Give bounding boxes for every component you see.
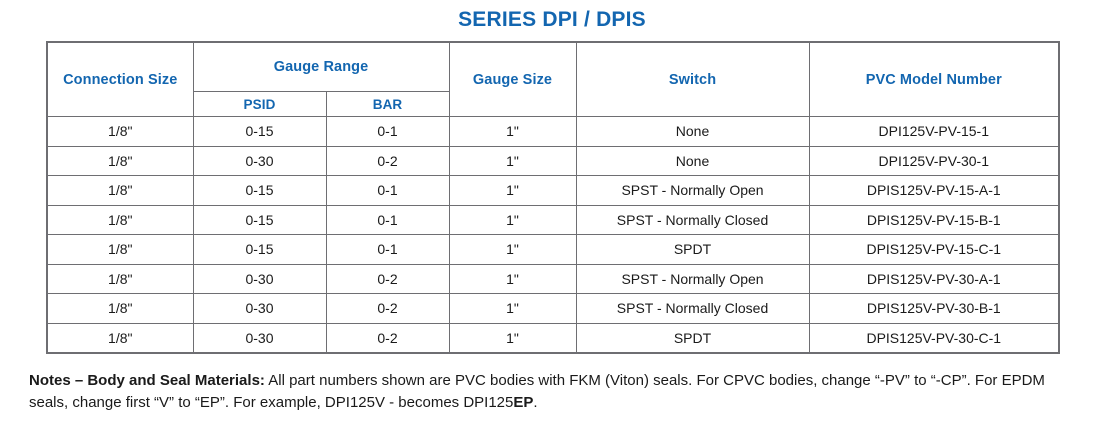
page-title: SERIES DPI / DPIS (0, 8, 1104, 32)
column-header-psid: PSID (193, 92, 326, 117)
table-row: 1/8"0-150-11"SPST - Normally ClosedDPIS1… (47, 205, 1059, 235)
cell-pvc-model-number: DPI125V-PV-15-1 (809, 117, 1059, 147)
cell-gauge-size: 1" (449, 323, 576, 353)
cell-connection-size: 1/8" (47, 264, 193, 294)
cell-connection-size: 1/8" (47, 117, 193, 147)
cell-pvc-model-number: DPIS125V-PV-15-C-1 (809, 235, 1059, 265)
cell-switch: SPDT (576, 323, 809, 353)
cell-switch: None (576, 146, 809, 176)
cell-psid: 0-15 (193, 235, 326, 265)
cell-connection-size: 1/8" (47, 176, 193, 206)
cell-pvc-model-number: DPI125V-PV-30-1 (809, 146, 1059, 176)
cell-bar: 0-2 (326, 323, 449, 353)
column-header-gauge-size: Gauge Size (449, 42, 576, 117)
notes-block: Notes – Body and Seal Materials: All par… (29, 370, 1081, 414)
table-body: 1/8"0-150-11"NoneDPI125V-PV-15-11/8"0-30… (47, 117, 1059, 354)
cell-psid: 0-30 (193, 323, 326, 353)
cell-switch: SPDT (576, 235, 809, 265)
cell-psid: 0-30 (193, 146, 326, 176)
product-spec-table: Connection Size Gauge Range Gauge Size S… (46, 41, 1060, 354)
cell-psid: 0-15 (193, 205, 326, 235)
cell-bar: 0-2 (326, 264, 449, 294)
cell-pvc-model-number: DPIS125V-PV-30-A-1 (809, 264, 1059, 294)
cell-switch: SPST - Normally Closed (576, 205, 809, 235)
cell-connection-size: 1/8" (47, 235, 193, 265)
cell-connection-size: 1/8" (47, 294, 193, 324)
header-row-primary: Connection Size Gauge Range Gauge Size S… (47, 42, 1059, 92)
table-row: 1/8"0-300-21"SPDTDPIS125V-PV-30-C-1 (47, 323, 1059, 353)
cell-psid: 0-15 (193, 176, 326, 206)
cell-pvc-model-number: DPIS125V-PV-15-A-1 (809, 176, 1059, 206)
cell-connection-size: 1/8" (47, 146, 193, 176)
column-header-switch: Switch (576, 42, 809, 117)
cell-bar: 0-2 (326, 294, 449, 324)
table-row: 1/8"0-300-21"SPST - Normally OpenDPIS125… (47, 264, 1059, 294)
cell-bar: 0-2 (326, 146, 449, 176)
table-row: 1/8"0-300-21"NoneDPI125V-PV-30-1 (47, 146, 1059, 176)
cell-gauge-size: 1" (449, 264, 576, 294)
table-row: 1/8"0-150-11"SPDTDPIS125V-PV-15-C-1 (47, 235, 1059, 265)
table-row: 1/8"0-150-11"NoneDPI125V-PV-15-1 (47, 117, 1059, 147)
column-header-bar: BAR (326, 92, 449, 117)
table-header: Connection Size Gauge Range Gauge Size S… (47, 42, 1059, 117)
cell-switch: SPST - Normally Open (576, 176, 809, 206)
cell-connection-size: 1/8" (47, 205, 193, 235)
notes-label: Notes – Body and Seal Materials: (29, 372, 265, 389)
cell-gauge-size: 1" (449, 176, 576, 206)
table-row: 1/8"0-300-21"SPST - Normally ClosedDPIS1… (47, 294, 1059, 324)
cell-switch: SPST - Normally Open (576, 264, 809, 294)
cell-bar: 0-1 (326, 205, 449, 235)
column-header-gauge-range: Gauge Range (193, 42, 449, 92)
notes-body-part2: . (533, 394, 537, 411)
cell-gauge-size: 1" (449, 235, 576, 265)
cell-bar: 0-1 (326, 176, 449, 206)
cell-switch: SPST - Normally Closed (576, 294, 809, 324)
cell-bar: 0-1 (326, 235, 449, 265)
cell-switch: None (576, 117, 809, 147)
column-header-connection-size: Connection Size (47, 42, 193, 117)
cell-psid: 0-30 (193, 264, 326, 294)
cell-psid: 0-15 (193, 117, 326, 147)
cell-pvc-model-number: DPIS125V-PV-15-B-1 (809, 205, 1059, 235)
cell-gauge-size: 1" (449, 146, 576, 176)
column-header-pvc-model-number: PVC Model Number (809, 42, 1059, 117)
cell-gauge-size: 1" (449, 294, 576, 324)
notes-body-bold: EP (513, 394, 533, 411)
spec-table-container: Connection Size Gauge Range Gauge Size S… (46, 41, 1058, 354)
cell-connection-size: 1/8" (47, 323, 193, 353)
cell-pvc-model-number: DPIS125V-PV-30-B-1 (809, 294, 1059, 324)
cell-gauge-size: 1" (449, 117, 576, 147)
table-row: 1/8"0-150-11"SPST - Normally OpenDPIS125… (47, 176, 1059, 206)
cell-psid: 0-30 (193, 294, 326, 324)
cell-pvc-model-number: DPIS125V-PV-30-C-1 (809, 323, 1059, 353)
cell-bar: 0-1 (326, 117, 449, 147)
cell-gauge-size: 1" (449, 205, 576, 235)
